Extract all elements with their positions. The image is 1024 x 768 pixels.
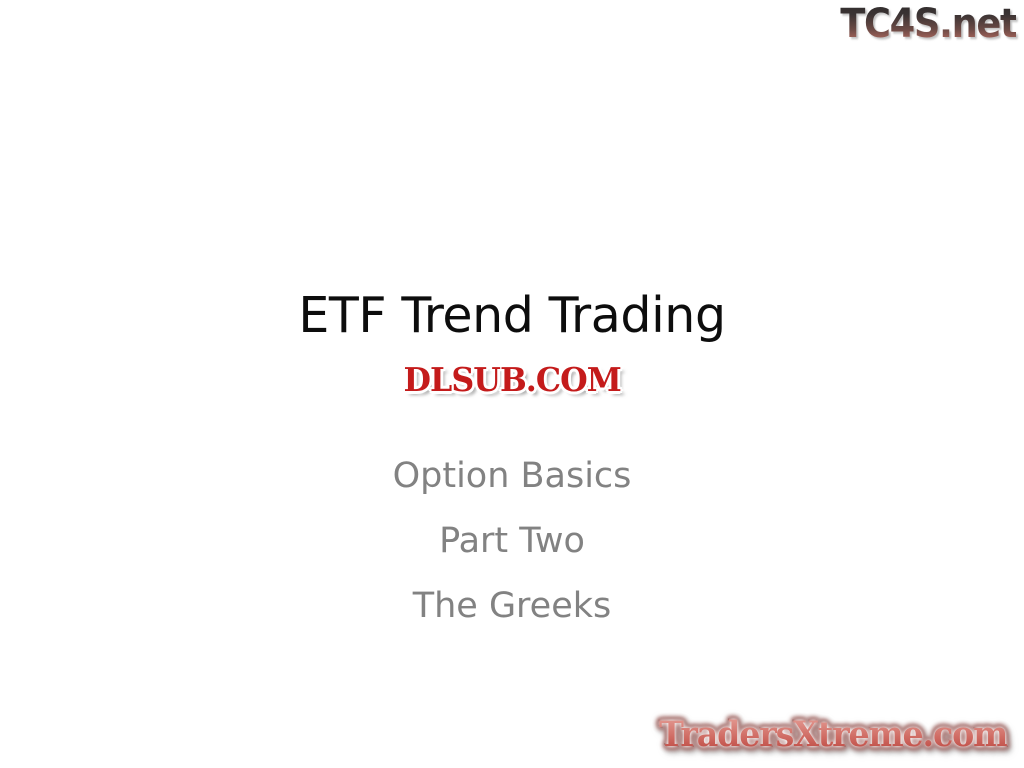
dlsub-watermark-text: DLSUB.COM (403, 362, 620, 398)
slide-subtitle-line-1: Option Basics (0, 444, 1024, 509)
presentation-slide: TC4S.net ETF Trend Trading DLSUB.COM Opt… (0, 0, 1024, 768)
slide-subtitle-block: Option Basics Part Two The Greeks (0, 444, 1024, 639)
slide-subtitle-line-3: The Greeks (0, 574, 1024, 639)
tradersxtreme-watermark-text: TradersXtreme.com (659, 714, 1007, 756)
tc4s-watermark: TC4S.net (840, 2, 1016, 46)
slide-title: ETF Trend Trading (0, 286, 1024, 346)
slide-subtitle-line-2: Part Two (0, 509, 1024, 574)
tradersxtreme-watermark: TradersXtreme.com (650, 714, 1016, 756)
dlsub-watermark: DLSUB.COM (0, 362, 1024, 398)
